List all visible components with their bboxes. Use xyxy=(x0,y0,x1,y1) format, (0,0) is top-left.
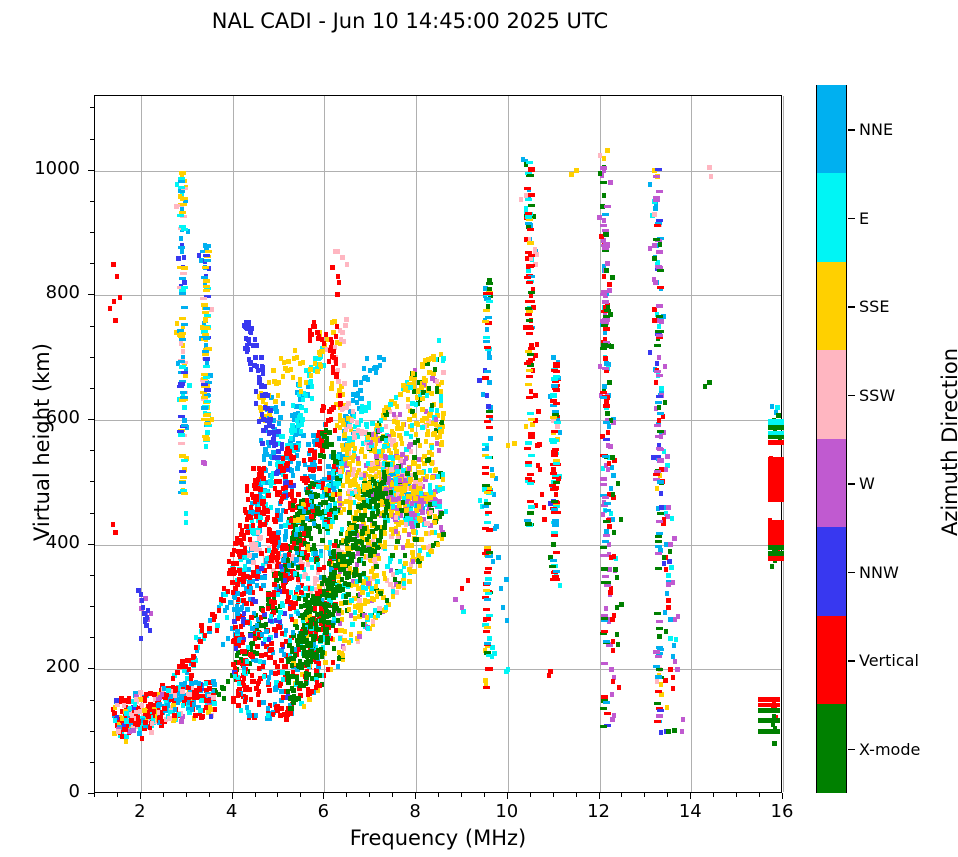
data-point xyxy=(324,422,328,427)
data-point xyxy=(330,497,334,502)
data-point xyxy=(707,380,711,385)
data-point xyxy=(652,277,656,282)
data-point xyxy=(280,442,284,447)
data-point xyxy=(554,492,558,497)
data-point xyxy=(768,545,784,550)
data-point xyxy=(527,500,534,503)
data-point xyxy=(477,378,481,383)
data-point xyxy=(525,198,532,201)
data-point xyxy=(319,635,323,640)
data-point xyxy=(394,545,398,550)
data-point xyxy=(283,664,287,669)
data-point xyxy=(430,376,434,381)
data-point xyxy=(372,557,376,562)
data-point xyxy=(254,713,258,718)
data-point xyxy=(602,247,609,250)
data-point xyxy=(204,244,211,247)
data-point xyxy=(482,443,489,446)
data-point xyxy=(389,490,393,495)
data-point xyxy=(611,679,615,684)
data-point xyxy=(466,578,470,583)
data-point xyxy=(406,397,410,402)
data-point xyxy=(253,499,257,504)
data-point xyxy=(313,455,317,460)
data-point xyxy=(394,486,398,491)
data-point xyxy=(655,690,662,693)
data-point xyxy=(301,360,305,365)
data-point xyxy=(616,481,620,486)
data-point xyxy=(666,605,670,610)
data-point xyxy=(316,562,320,567)
data-point xyxy=(267,688,271,693)
data-point xyxy=(485,577,492,580)
data-point xyxy=(428,468,432,473)
data-point xyxy=(601,324,608,327)
data-point xyxy=(396,584,400,589)
data-point xyxy=(124,739,128,744)
x-tick xyxy=(484,793,485,797)
data-point xyxy=(317,661,321,666)
data-point xyxy=(398,486,402,491)
data-point xyxy=(526,369,533,372)
data-point xyxy=(675,667,679,672)
data-point xyxy=(329,386,333,391)
data-point xyxy=(404,431,408,436)
data-point xyxy=(437,448,441,453)
data-point xyxy=(486,528,493,531)
data-point xyxy=(416,523,420,528)
data-point xyxy=(525,212,532,215)
data-point xyxy=(141,605,145,610)
data-point xyxy=(525,215,532,218)
x-tick-label-2: 6 xyxy=(293,801,353,822)
data-point xyxy=(221,642,225,647)
data-point xyxy=(416,422,420,427)
data-point xyxy=(665,705,669,710)
data-point xyxy=(551,500,558,503)
data-point xyxy=(376,556,380,561)
data-point xyxy=(299,389,303,394)
data-point xyxy=(444,509,448,514)
data-point xyxy=(401,383,405,388)
data-point xyxy=(203,285,210,288)
data-point xyxy=(357,634,361,639)
data-point xyxy=(403,553,407,558)
data-point xyxy=(362,571,366,576)
data-point xyxy=(340,407,344,412)
data-point xyxy=(439,442,443,447)
data-point xyxy=(352,467,356,472)
y-tick xyxy=(90,450,94,451)
data-point xyxy=(245,705,249,710)
data-point xyxy=(528,193,535,196)
data-point xyxy=(142,611,146,616)
data-point xyxy=(277,615,281,620)
data-point xyxy=(484,491,491,494)
data-point xyxy=(274,571,278,576)
data-point xyxy=(602,496,609,499)
data-point xyxy=(248,652,252,657)
data-point xyxy=(322,522,326,527)
data-point xyxy=(394,515,398,520)
data-point xyxy=(416,464,420,469)
data-point xyxy=(362,366,366,371)
data-point xyxy=(383,531,387,536)
data-point xyxy=(657,286,664,289)
data-point xyxy=(299,429,303,434)
page-title: NAL CADI - Jun 10 14:45:00 2025 UTC xyxy=(0,9,820,33)
data-point xyxy=(601,617,608,620)
data-point xyxy=(375,460,379,465)
data-point xyxy=(369,489,373,494)
data-point xyxy=(554,511,561,514)
data-point xyxy=(602,229,609,232)
data-point xyxy=(607,282,611,287)
data-point xyxy=(144,623,148,628)
data-point xyxy=(425,458,429,463)
data-point xyxy=(293,619,297,624)
data-point xyxy=(308,367,312,372)
data-point xyxy=(342,363,346,368)
data-point xyxy=(204,422,211,425)
data-point xyxy=(277,421,281,426)
data-point xyxy=(525,464,532,467)
data-point xyxy=(272,582,276,587)
data-point xyxy=(254,553,258,558)
data-point xyxy=(182,418,186,423)
data-point xyxy=(606,430,610,435)
data-point xyxy=(655,361,659,366)
data-point xyxy=(236,616,240,621)
data-point xyxy=(197,681,201,686)
data-point xyxy=(609,486,613,491)
data-point xyxy=(287,552,291,557)
data-point xyxy=(234,646,238,651)
colorbar-segment-nne xyxy=(817,85,846,174)
data-point xyxy=(180,249,184,254)
data-point xyxy=(654,224,661,227)
data-point xyxy=(257,466,261,471)
data-point xyxy=(663,364,667,369)
data-point xyxy=(334,334,338,339)
data-point xyxy=(142,708,146,713)
data-point xyxy=(401,422,405,427)
data-point xyxy=(347,607,351,612)
data-point xyxy=(659,505,663,510)
y-tick xyxy=(90,762,94,763)
data-point xyxy=(296,461,300,466)
data-point xyxy=(266,515,270,520)
data-point xyxy=(493,526,497,531)
data-point xyxy=(374,584,378,589)
data-point xyxy=(338,636,342,641)
data-point xyxy=(290,649,294,654)
data-point xyxy=(600,166,607,169)
data-point xyxy=(258,487,262,492)
data-point xyxy=(366,435,370,440)
data-point xyxy=(275,513,279,518)
data-point xyxy=(484,420,491,423)
data-point xyxy=(258,659,262,664)
y-tick xyxy=(90,357,94,358)
data-point xyxy=(526,319,533,322)
data-point xyxy=(665,514,669,519)
data-point xyxy=(549,565,556,568)
data-point xyxy=(284,628,288,633)
colorbar-segment-ssw xyxy=(817,350,846,439)
data-point xyxy=(178,180,185,183)
data-point xyxy=(667,559,671,564)
data-point xyxy=(203,307,210,310)
x-tick xyxy=(759,793,760,797)
data-point xyxy=(303,627,307,632)
data-point xyxy=(213,614,217,619)
data-point xyxy=(294,546,298,551)
data-point xyxy=(172,713,176,718)
data-point xyxy=(329,524,333,529)
data-point xyxy=(280,642,284,647)
data-point xyxy=(315,369,319,374)
x-tick xyxy=(621,793,622,797)
data-point xyxy=(324,487,328,492)
data-point xyxy=(524,424,528,429)
data-point xyxy=(598,153,602,158)
x-tick xyxy=(553,793,554,797)
data-point xyxy=(146,714,150,719)
data-point xyxy=(259,551,263,556)
data-point xyxy=(601,512,605,517)
data-point xyxy=(664,467,668,472)
data-point xyxy=(309,659,313,664)
data-point xyxy=(385,462,389,467)
data-point xyxy=(231,662,235,667)
data-point xyxy=(486,410,493,413)
data-point xyxy=(113,530,117,535)
data-point xyxy=(486,300,493,303)
x-tick xyxy=(667,793,668,797)
data-point xyxy=(306,442,310,447)
data-point xyxy=(240,530,244,535)
data-point xyxy=(383,454,387,459)
data-point xyxy=(525,522,532,525)
data-point xyxy=(352,435,356,440)
data-point xyxy=(435,386,439,391)
data-point xyxy=(326,530,330,535)
data-point xyxy=(398,412,402,417)
data-point xyxy=(403,483,407,488)
data-point xyxy=(306,576,310,581)
data-point xyxy=(666,582,670,587)
data-point xyxy=(248,329,252,334)
data-point xyxy=(362,487,366,492)
data-point xyxy=(600,396,607,399)
data-point xyxy=(346,582,350,587)
data-point xyxy=(302,509,306,514)
data-point xyxy=(176,256,180,261)
data-point xyxy=(374,564,378,569)
y-tick xyxy=(88,170,94,171)
data-point xyxy=(602,218,606,223)
data-point xyxy=(419,491,423,496)
data-point xyxy=(365,537,369,542)
data-point xyxy=(332,464,336,469)
data-point xyxy=(318,352,322,357)
data-point xyxy=(401,545,405,550)
y-tick xyxy=(90,139,94,140)
data-point xyxy=(136,588,140,593)
data-point xyxy=(407,532,411,537)
data-point xyxy=(290,663,294,668)
data-point xyxy=(178,415,185,418)
data-point xyxy=(283,523,287,528)
data-point xyxy=(558,430,562,435)
data-point xyxy=(603,640,610,643)
data-point xyxy=(528,418,535,421)
data-point xyxy=(673,659,677,664)
data-point xyxy=(666,573,670,578)
data-point xyxy=(360,503,364,508)
data-point xyxy=(533,393,537,398)
data-point xyxy=(384,424,388,429)
data-point xyxy=(245,620,249,625)
x-tick xyxy=(736,793,737,797)
data-point xyxy=(308,457,312,462)
data-point xyxy=(226,636,230,641)
data-point xyxy=(180,489,187,492)
data-point xyxy=(501,605,505,610)
data-point xyxy=(285,447,289,452)
data-point xyxy=(311,474,315,479)
data-point xyxy=(179,719,183,724)
data-point xyxy=(296,517,300,522)
data-point xyxy=(604,268,608,273)
data-point xyxy=(175,670,179,675)
data-point xyxy=(351,545,355,550)
data-point xyxy=(652,243,656,248)
data-point xyxy=(551,369,558,372)
x-tick xyxy=(507,793,508,799)
data-point xyxy=(348,531,352,536)
data-point xyxy=(346,592,350,597)
data-point xyxy=(376,613,380,618)
data-point xyxy=(138,690,142,695)
data-point xyxy=(382,444,386,449)
data-point xyxy=(346,401,350,406)
data-point xyxy=(605,411,609,416)
data-point xyxy=(303,586,307,591)
data-point xyxy=(419,385,423,390)
y-tick xyxy=(90,575,94,576)
data-point xyxy=(609,667,613,672)
data-point xyxy=(331,450,335,455)
data-point xyxy=(251,523,255,528)
data-point xyxy=(289,436,293,441)
data-point xyxy=(317,466,321,471)
data-point xyxy=(398,478,402,483)
data-point xyxy=(254,514,258,519)
data-point xyxy=(527,482,534,485)
data-point xyxy=(261,371,265,376)
data-point xyxy=(371,499,375,504)
data-point xyxy=(281,374,285,379)
data-point xyxy=(286,659,290,664)
data-point xyxy=(654,720,661,723)
data-point xyxy=(672,728,676,733)
data-point xyxy=(245,530,249,535)
data-point xyxy=(483,608,490,611)
data-point xyxy=(373,481,377,486)
x-tick xyxy=(369,793,370,797)
data-point xyxy=(655,535,662,538)
data-point xyxy=(184,511,188,516)
data-point xyxy=(524,187,531,190)
data-point xyxy=(608,180,612,185)
y-tick xyxy=(88,793,94,794)
data-point xyxy=(202,333,209,336)
data-point xyxy=(656,620,663,623)
y-tick xyxy=(90,481,94,482)
data-point xyxy=(278,683,282,688)
data-point xyxy=(203,254,210,257)
data-point xyxy=(123,727,127,732)
data-point xyxy=(657,412,664,415)
data-point xyxy=(274,633,278,638)
data-point xyxy=(296,585,300,590)
data-point xyxy=(249,367,253,372)
data-point xyxy=(770,564,774,569)
data-point xyxy=(482,472,489,475)
data-point xyxy=(289,428,293,433)
data-point xyxy=(551,531,558,534)
data-point xyxy=(288,638,292,643)
data-point xyxy=(383,491,387,496)
data-point xyxy=(506,443,510,448)
y-tick xyxy=(88,544,94,545)
x-tick xyxy=(438,793,439,797)
data-point xyxy=(299,590,303,595)
data-point xyxy=(309,373,313,378)
data-point xyxy=(197,253,201,258)
data-point xyxy=(181,703,185,708)
data-point xyxy=(600,554,607,557)
data-point xyxy=(357,487,361,492)
data-point xyxy=(265,406,269,411)
data-point xyxy=(485,555,492,558)
data-point xyxy=(653,238,660,241)
data-point xyxy=(656,190,663,193)
data-point xyxy=(326,603,330,608)
data-point xyxy=(237,660,241,665)
data-point xyxy=(108,306,112,311)
data-point xyxy=(403,561,407,566)
data-point xyxy=(601,343,608,346)
data-point xyxy=(236,591,240,596)
data-point xyxy=(680,729,684,734)
y-tick xyxy=(88,668,94,669)
data-point xyxy=(527,412,534,415)
data-point xyxy=(342,646,346,651)
data-point xyxy=(222,696,226,701)
data-point xyxy=(262,522,266,527)
data-point xyxy=(657,709,664,712)
data-point xyxy=(395,469,399,474)
data-point xyxy=(486,654,493,657)
data-point xyxy=(553,570,560,573)
colorbar-label-ssw: SSW xyxy=(859,386,895,405)
data-point xyxy=(655,435,662,438)
data-point xyxy=(283,534,287,539)
data-point xyxy=(656,219,663,222)
